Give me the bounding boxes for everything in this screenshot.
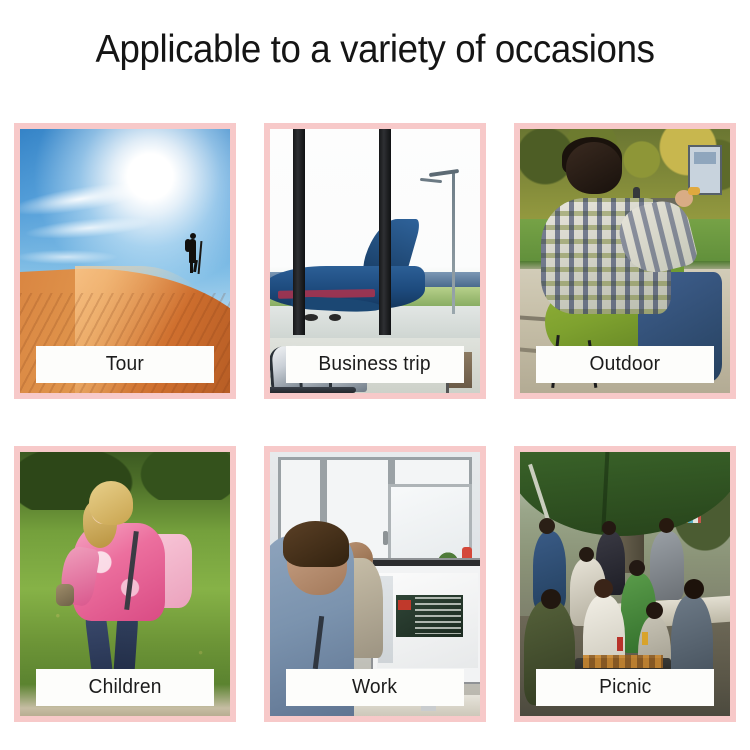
card-label-picnic: Picnic <box>536 669 714 706</box>
window-mullion <box>379 129 391 335</box>
card-label-text: Work <box>352 676 397 699</box>
occasion-card-tour[interactable]: Tour <box>14 123 236 399</box>
card-label-text: Business trip <box>319 353 431 376</box>
seat-base-rail <box>270 387 356 393</box>
occasions-page: Applicable to a variety of occasions <box>0 0 750 750</box>
airplane-landing-gear <box>304 314 318 321</box>
card-label-outdoor: Outdoor <box>536 346 714 383</box>
screen-text-lines <box>415 597 461 634</box>
card-label-text: Tour <box>106 353 144 376</box>
bottle-icon <box>642 632 648 645</box>
photo-airport-terminal: Business trip <box>270 129 480 393</box>
photo-group-picnic: Picnic <box>520 452 730 716</box>
airplane-landing-gear <box>329 314 341 321</box>
bottle-icon <box>617 637 623 651</box>
person-figure <box>650 531 684 600</box>
occasion-card-children[interactable]: Children <box>14 446 236 722</box>
photo-desert-dunes: Tour <box>20 129 230 393</box>
window-handle-icon <box>383 531 388 545</box>
person-head <box>659 518 674 533</box>
card-label-children: Children <box>36 669 214 706</box>
page-title: Applicable to a variety of occasions <box>23 27 728 73</box>
card-label-text: Children <box>88 676 161 699</box>
screen-accent-block <box>398 600 411 611</box>
person-head <box>684 579 704 599</box>
grilled-food <box>583 655 663 668</box>
occasion-card-business-trip[interactable]: Business trip <box>264 123 486 399</box>
occasion-card-picnic[interactable]: Picnic <box>514 446 736 722</box>
photo-girl-on-grass: Children <box>20 452 230 716</box>
snack-icon <box>688 187 700 195</box>
photo-office-desk: Work <box>270 452 480 716</box>
hiker-silhouette-icon <box>185 229 201 273</box>
seated-man-head <box>566 142 622 194</box>
girl-glove <box>56 584 74 606</box>
occasion-card-grid: Tour <box>14 123 736 723</box>
photo-outdoor-camp-chair: Outdoor <box>520 129 730 393</box>
occasion-card-work[interactable]: Work <box>264 446 486 722</box>
cloud-icon <box>20 250 117 263</box>
person-head <box>579 547 594 562</box>
card-label-work: Work <box>286 669 464 706</box>
window-mullion <box>293 129 305 335</box>
person-head <box>594 579 613 598</box>
person-head <box>602 521 616 535</box>
worker-hair <box>283 521 349 567</box>
card-label-tour: Tour <box>36 346 214 383</box>
person-head <box>539 518 555 534</box>
card-label-business-trip: Business trip <box>286 346 464 383</box>
card-label-text: Picnic <box>599 676 651 699</box>
occasion-card-outdoor[interactable]: Outdoor <box>514 123 736 399</box>
girl-hair <box>89 481 133 525</box>
card-label-text: Outdoor <box>590 353 661 376</box>
light-pole-icon <box>452 171 455 314</box>
